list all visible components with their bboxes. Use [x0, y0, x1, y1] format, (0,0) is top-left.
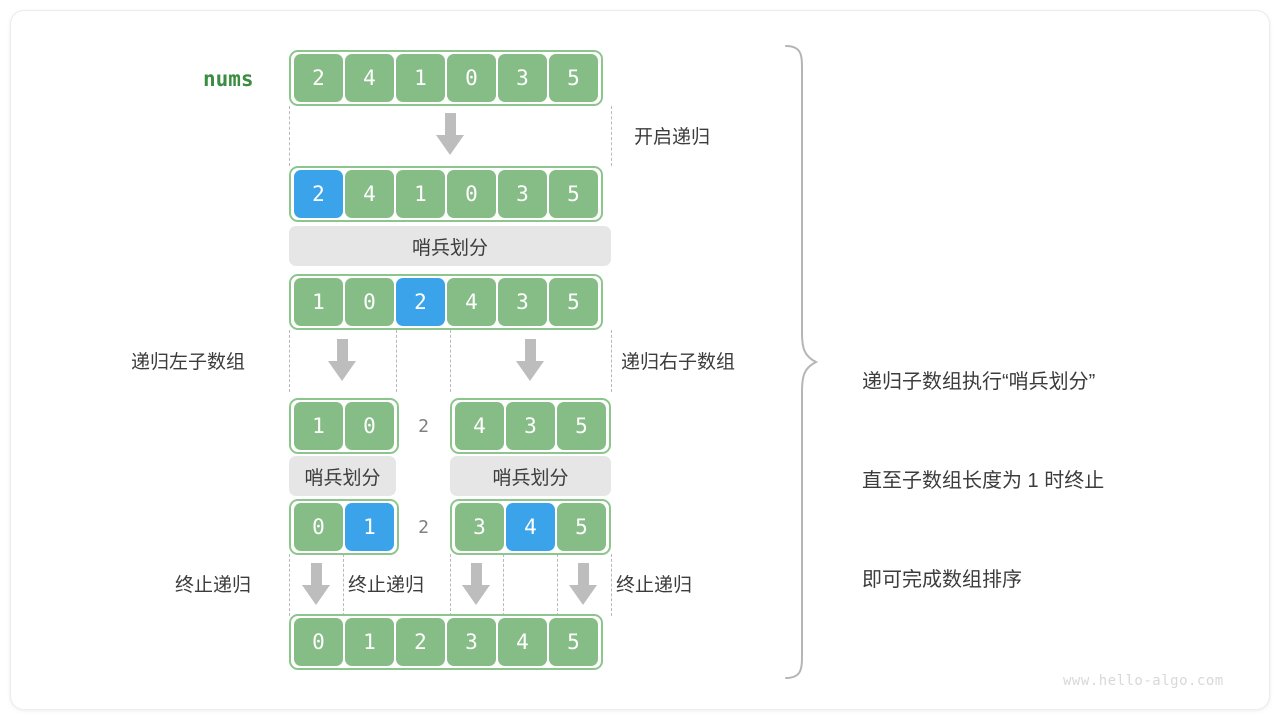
array-cell: 1 [294, 278, 343, 326]
guide-line [343, 554, 344, 616]
array-cell: 3 [455, 503, 504, 551]
array-cell: 0 [447, 54, 496, 102]
array-group-right-subarray: 4 3 5 [450, 398, 611, 454]
array-cell: 1 [294, 402, 343, 450]
guide-line [557, 554, 558, 616]
annotation-line-3: 即可完成数组排序 [862, 564, 1104, 597]
label-terminate-recursion-1: 终止递归 [175, 570, 251, 597]
array-cell-pivot: 2 [294, 170, 343, 218]
array-group-initial: 2 4 1 0 3 5 [289, 50, 603, 106]
array-cell: 0 [345, 402, 394, 450]
right-curly-brace [782, 44, 822, 685]
array-cell: 3 [498, 170, 547, 218]
array-group-right-after-partition: 3 4 5 [450, 499, 611, 555]
array-cell: 0 [345, 278, 394, 326]
label-recurse-right: 递归右子数组 [621, 347, 735, 374]
operation-bar-partition-left: 哨兵划分 [289, 456, 396, 496]
array-cell: 4 [498, 618, 547, 666]
arrow-down-icon [516, 339, 544, 381]
array-group-sorted: 0 1 2 3 4 5 [289, 614, 603, 670]
guide-line [396, 330, 397, 392]
guide-line [611, 554, 612, 616]
array-group-pivot-selected: 2 4 1 0 3 5 [289, 166, 603, 222]
array-cell: 2 [294, 54, 343, 102]
label-recurse-left: 递归左子数组 [131, 347, 245, 374]
array-cell-pivot: 4 [506, 503, 555, 551]
loose-value-pivot: 2 [397, 499, 450, 555]
nums-label: nums [203, 67, 254, 91]
array-cell: 5 [557, 503, 606, 551]
guide-line [611, 330, 612, 392]
label-terminate-recursion-3: 终止递归 [616, 570, 692, 597]
watermark: www.hello-algo.com [1063, 673, 1224, 689]
array-cell: 0 [294, 503, 343, 551]
arrow-down-icon [328, 339, 356, 381]
arrow-down-icon [436, 113, 464, 155]
array-cell: 4 [345, 54, 394, 102]
array-cell: 5 [557, 402, 606, 450]
guide-line [450, 554, 451, 616]
array-cell: 5 [549, 170, 598, 218]
arrow-down-icon [302, 563, 330, 605]
guide-line [289, 554, 290, 616]
operation-bar-partition-right: 哨兵划分 [450, 456, 611, 496]
arrow-down-icon [569, 563, 597, 605]
array-cell-pivot: 1 [345, 503, 394, 551]
array-cell: 2 [396, 618, 445, 666]
array-cell: 5 [549, 54, 598, 102]
array-group-left-subarray: 1 0 [289, 398, 399, 454]
array-cell: 4 [345, 170, 394, 218]
array-cell: 3 [447, 618, 496, 666]
loose-value-pivot: 2 [397, 398, 450, 454]
label-start-recursion: 开启递归 [634, 122, 710, 149]
guide-line [503, 554, 504, 616]
array-cell: 3 [506, 402, 555, 450]
guide-line [289, 330, 290, 392]
array-cell: 1 [396, 54, 445, 102]
label-terminate-recursion-2: 终止递归 [348, 570, 424, 597]
operation-bar-partition: 哨兵划分 [289, 226, 611, 266]
guide-line [289, 106, 290, 166]
array-group-after-partition-1: 1 0 2 4 3 5 [289, 274, 603, 330]
annotation-line-1: 递归子数组执行“哨兵划分” [862, 366, 1104, 399]
annotation-line-2: 直至子数组长度为 1 时终止 [862, 465, 1104, 498]
array-cell: 4 [447, 278, 496, 326]
array-cell: 5 [549, 278, 598, 326]
guide-line [611, 106, 612, 166]
array-cell-pivot: 2 [396, 278, 445, 326]
array-cell: 0 [294, 618, 343, 666]
annotation-note: 递归子数组执行“哨兵划分” 直至子数组长度为 1 时终止 即可完成数组排序 [862, 300, 1104, 663]
array-cell: 3 [498, 278, 547, 326]
arrow-down-icon [462, 563, 490, 605]
array-cell: 1 [345, 618, 394, 666]
array-cell: 0 [447, 170, 496, 218]
array-group-left-after-partition: 0 1 [289, 499, 399, 555]
array-cell: 1 [396, 170, 445, 218]
array-cell: 4 [455, 402, 504, 450]
array-cell: 5 [549, 618, 598, 666]
array-cell: 3 [498, 54, 547, 102]
guide-line [450, 330, 451, 392]
diagram-canvas: nums 2 4 1 0 3 5 开启递归 2 4 1 0 3 5 哨兵划分 1… [0, 0, 1280, 720]
